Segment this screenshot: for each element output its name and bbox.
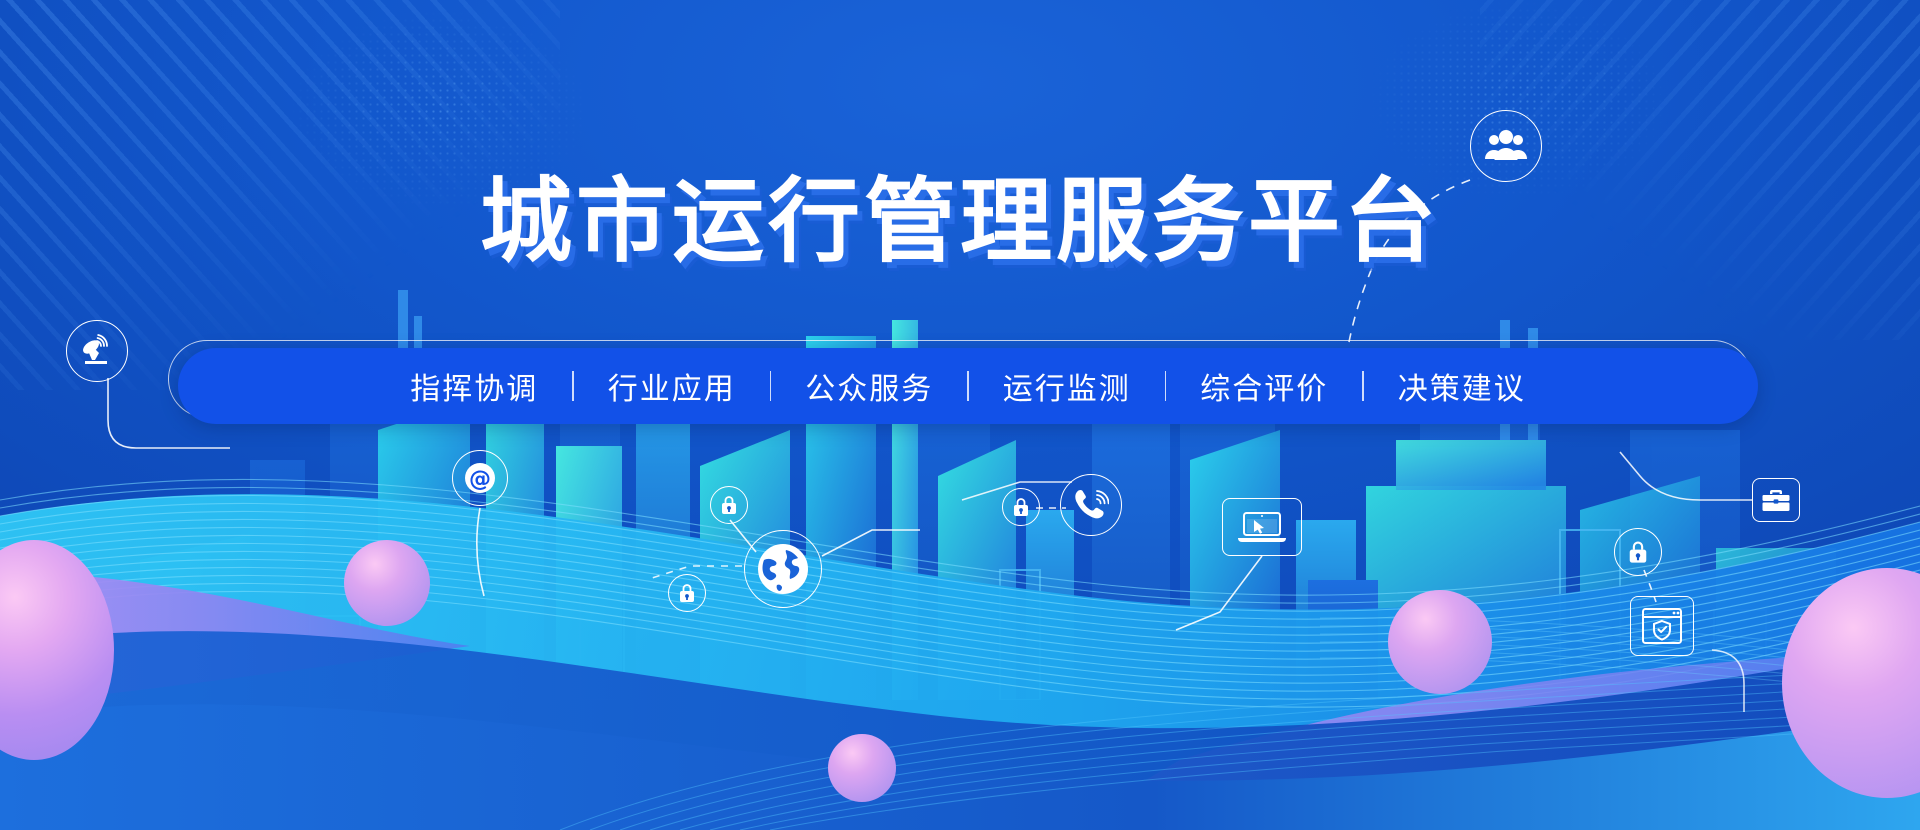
nav-item-4[interactable]: 综合评价 bbox=[1166, 364, 1362, 408]
satellite-dish-badge[interactable] bbox=[66, 320, 128, 382]
lock-icon bbox=[710, 486, 748, 524]
nav-item-3[interactable]: 运行监测 bbox=[969, 364, 1165, 408]
lock-badge-4[interactable] bbox=[1614, 528, 1662, 576]
nav-item-0[interactable]: 指挥协调 bbox=[376, 364, 572, 408]
lock-badge-1[interactable] bbox=[710, 486, 748, 524]
briefcase-icon bbox=[1752, 478, 1800, 522]
nav-item-5[interactable]: 决策建议 bbox=[1364, 364, 1560, 408]
people-group-icon bbox=[1470, 110, 1542, 182]
browser-shield-icon bbox=[1630, 596, 1694, 656]
email-at-badge[interactable]: @ bbox=[452, 450, 508, 506]
lock-icon bbox=[1002, 488, 1040, 526]
svg-text:@: @ bbox=[469, 467, 491, 492]
laptop-cursor-badge[interactable] bbox=[1222, 498, 1302, 556]
briefcase-badge[interactable] bbox=[1752, 478, 1800, 522]
lock-icon bbox=[668, 574, 706, 612]
satellite-dish-icon bbox=[66, 320, 128, 382]
page-title: 城市运行管理服务平台 bbox=[480, 176, 1440, 268]
globe-icon bbox=[744, 530, 822, 608]
phone-ring-icon bbox=[1060, 474, 1122, 536]
gradient-sphere-mid-right bbox=[1388, 590, 1492, 694]
gradient-sphere-small-left bbox=[344, 540, 430, 626]
nav-item-2[interactable]: 公众服务 bbox=[771, 364, 967, 408]
gradient-sphere-small-mid bbox=[828, 734, 896, 802]
people-group-badge[interactable] bbox=[1470, 110, 1542, 182]
lock-badge-3[interactable] bbox=[1002, 488, 1040, 526]
email-at-icon: @ bbox=[452, 450, 508, 506]
phone-ring-badge[interactable] bbox=[1060, 474, 1122, 536]
main-nav: 指挥协调 行业应用 公众服务 运行监测 综合评价 决策建议 bbox=[178, 348, 1758, 424]
nav-item-1[interactable]: 行业应用 bbox=[574, 364, 770, 408]
laptop-cursor-icon bbox=[1222, 498, 1302, 556]
lock-icon bbox=[1614, 528, 1662, 576]
lock-badge-2[interactable] bbox=[668, 574, 706, 612]
globe-badge[interactable] bbox=[744, 530, 822, 608]
browser-shield-badge[interactable] bbox=[1630, 596, 1694, 656]
city-platform-banner: @ bbox=[0, 0, 1920, 830]
page-title-wrap: 城市运行管理服务平台 bbox=[0, 176, 1920, 268]
